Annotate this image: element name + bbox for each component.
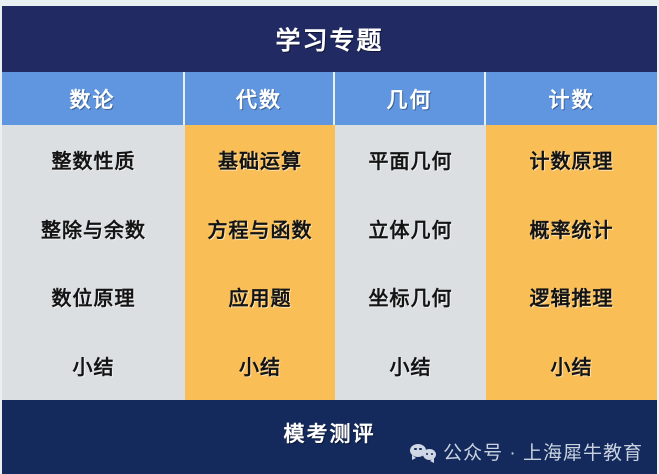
topic-cell[interactable]: 小结 xyxy=(335,331,486,400)
poster-footer-band: 模考测评 公众号 · 上海犀牛教育 xyxy=(2,400,657,474)
page-title: 学习专题 xyxy=(275,21,383,57)
topics-grid: 整数性质整除与余数数位原理小结基础运算方程与函数应用题小结平面几何立体几何坐标几… xyxy=(2,125,657,400)
topic-cell[interactable]: 平面几何 xyxy=(335,125,486,194)
topic-cell[interactable]: 立体几何 xyxy=(335,194,486,263)
watermark: 公众号 · 上海犀牛教育 xyxy=(410,438,643,465)
column-header-row: 数论代数几何计数 xyxy=(2,72,657,125)
topic-cell[interactable]: 小结 xyxy=(2,331,185,400)
study-topics-poster: 学习专题 数论代数几何计数 整数性质整除与余数数位原理小结基础运算方程与函数应用… xyxy=(0,0,659,474)
column-header-4[interactable]: 计数 xyxy=(486,72,657,125)
topic-cell[interactable]: 小结 xyxy=(185,331,335,400)
topic-cell[interactable]: 基础运算 xyxy=(185,125,335,194)
wechat-icon xyxy=(410,442,436,462)
topic-cell[interactable]: 计数原理 xyxy=(486,125,657,194)
topic-column-3: 平面几何立体几何坐标几何小结 xyxy=(335,125,486,400)
column-header-3[interactable]: 几何 xyxy=(335,72,486,125)
topic-cell[interactable]: 逻辑推理 xyxy=(486,263,657,332)
topic-cell[interactable]: 方程与函数 xyxy=(185,194,335,263)
poster-title-band: 学习专题 xyxy=(2,6,657,72)
column-header-1[interactable]: 数论 xyxy=(2,72,185,125)
topic-column-1: 整数性质整除与余数数位原理小结 xyxy=(2,125,185,400)
watermark-text: 公众号 · 上海犀牛教育 xyxy=(443,438,643,465)
topic-cell[interactable]: 概率统计 xyxy=(486,194,657,263)
topic-cell[interactable]: 小结 xyxy=(486,331,657,400)
topic-cell[interactable]: 应用题 xyxy=(185,263,335,332)
topic-cell[interactable]: 整除与余数 xyxy=(2,194,185,263)
column-header-2[interactable]: 代数 xyxy=(185,72,335,125)
topic-cell[interactable]: 坐标几何 xyxy=(335,263,486,332)
topic-column-4: 计数原理概率统计逻辑推理小结 xyxy=(486,125,657,400)
topic-column-2: 基础运算方程与函数应用题小结 xyxy=(185,125,335,400)
topic-cell[interactable]: 整数性质 xyxy=(2,125,185,194)
topic-cell[interactable]: 数位原理 xyxy=(2,263,185,332)
